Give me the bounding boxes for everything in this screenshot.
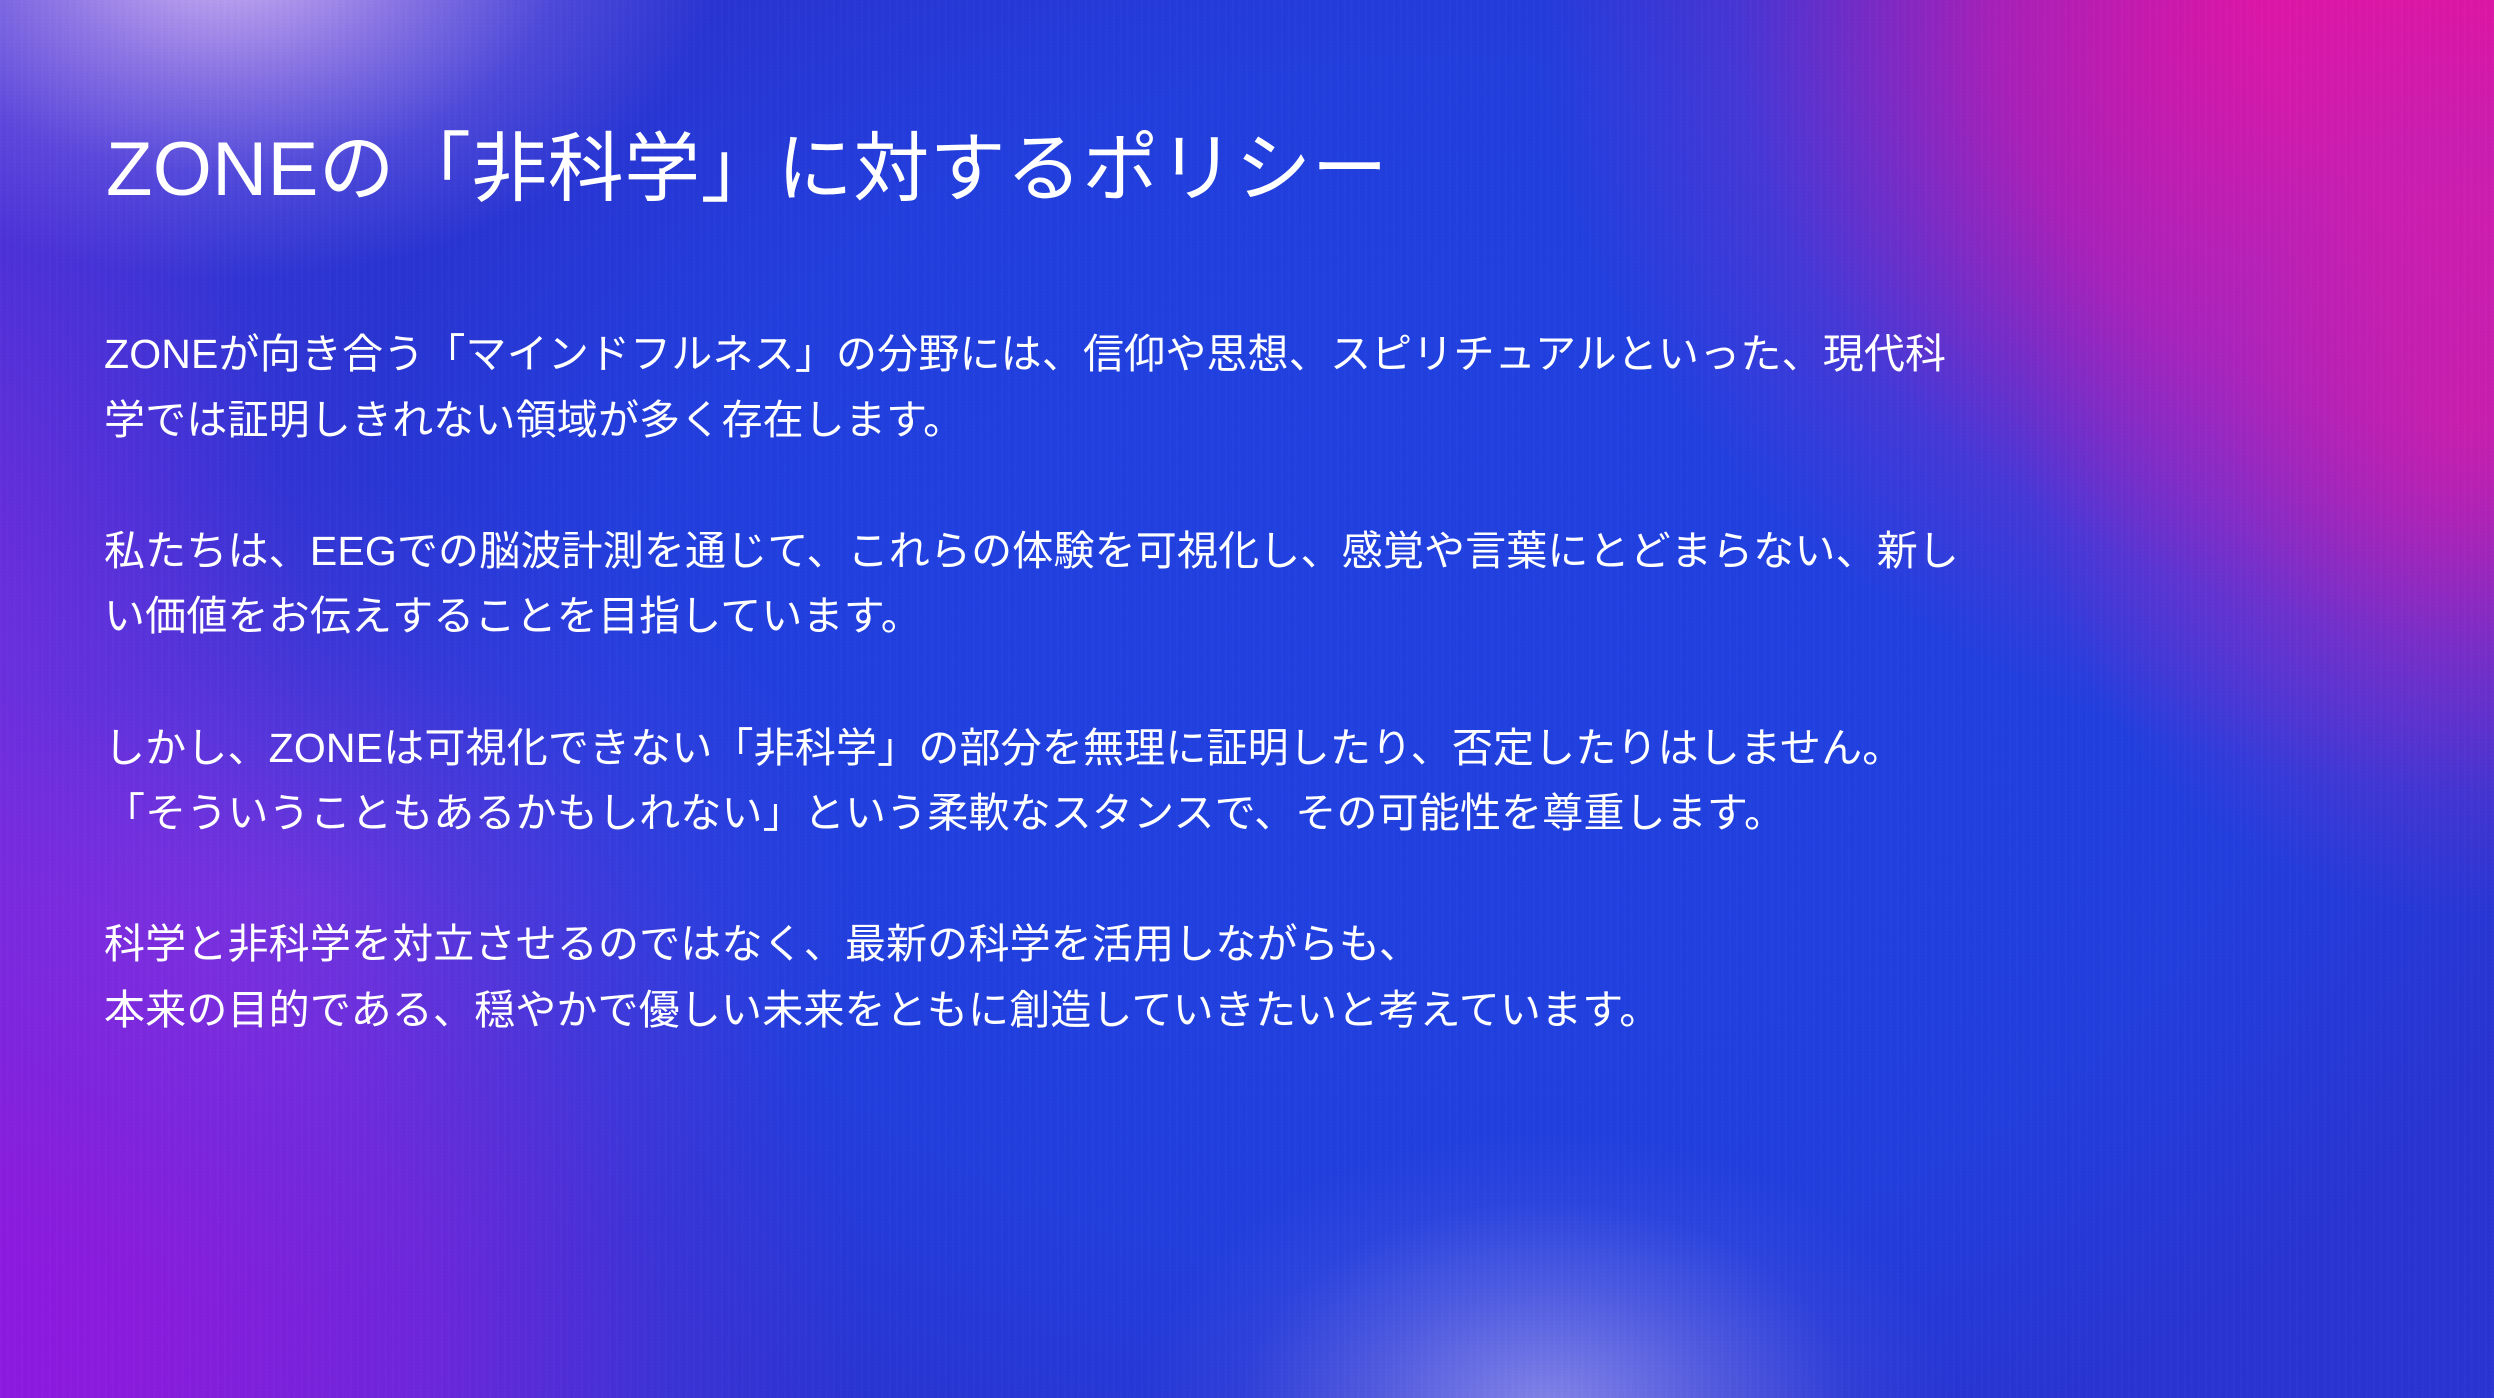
paragraph-line: 学では証明しきれない領域が多く存在します。 xyxy=(104,388,2434,454)
slide-content: ZONEの「非科学」に対するポリシー ZONEが向き合う「マインドフルネス」の分… xyxy=(0,0,2494,1398)
paragraph-line: 私たちは、EEGでの脳波計測を通じて、これらの体験を可視化し、感覚や言葉にとどま… xyxy=(104,519,2434,585)
paragraph-mindfulness: ZONEが向き合う「マインドフルネス」の分野には、信仰や思想、スピリチュアルとい… xyxy=(104,322,2434,453)
paragraph-stance: しかし、ZONEは可視化できない「非科学」の部分を無理に証明したり、否定したりは… xyxy=(104,716,2434,847)
paragraph-line: い価値をお伝えすることを目指しています。 xyxy=(104,584,2434,650)
slide-title: ZONEの「非科学」に対するポリシー xyxy=(106,127,1388,212)
paragraph-line: 「そういうこともあるかもしれない」という柔軟なスタンスで、その可能性を尊重します… xyxy=(104,781,2434,847)
paragraph-future: 科学と非科学を対立させるのではなく、最新の科学を活用しながらも、 本来の目的であ… xyxy=(104,912,2434,1043)
presentation-slide: ZONEの「非科学」に対するポリシー ZONEが向き合う「マインドフルネス」の分… xyxy=(0,0,2494,1398)
paragraph-line: ZONEが向き合う「マインドフルネス」の分野には、信仰や思想、スピリチュアルとい… xyxy=(104,322,2434,388)
paragraph-line: 本来の目的である、穏やかで優しい未来をともに創造していきたいと考えています。 xyxy=(104,978,2434,1044)
paragraph-eeg: 私たちは、EEGでの脳波計測を通じて、これらの体験を可視化し、感覚や言葉にとどま… xyxy=(104,519,2434,650)
paragraph-line: 科学と非科学を対立させるのではなく、最新の科学を活用しながらも、 xyxy=(104,912,2434,978)
slide-body: ZONEが向き合う「マインドフルネス」の分野には、信仰や思想、スピリチュアルとい… xyxy=(104,322,2434,1044)
paragraph-line: しかし、ZONEは可視化できない「非科学」の部分を無理に証明したり、否定したりは… xyxy=(104,716,2434,782)
